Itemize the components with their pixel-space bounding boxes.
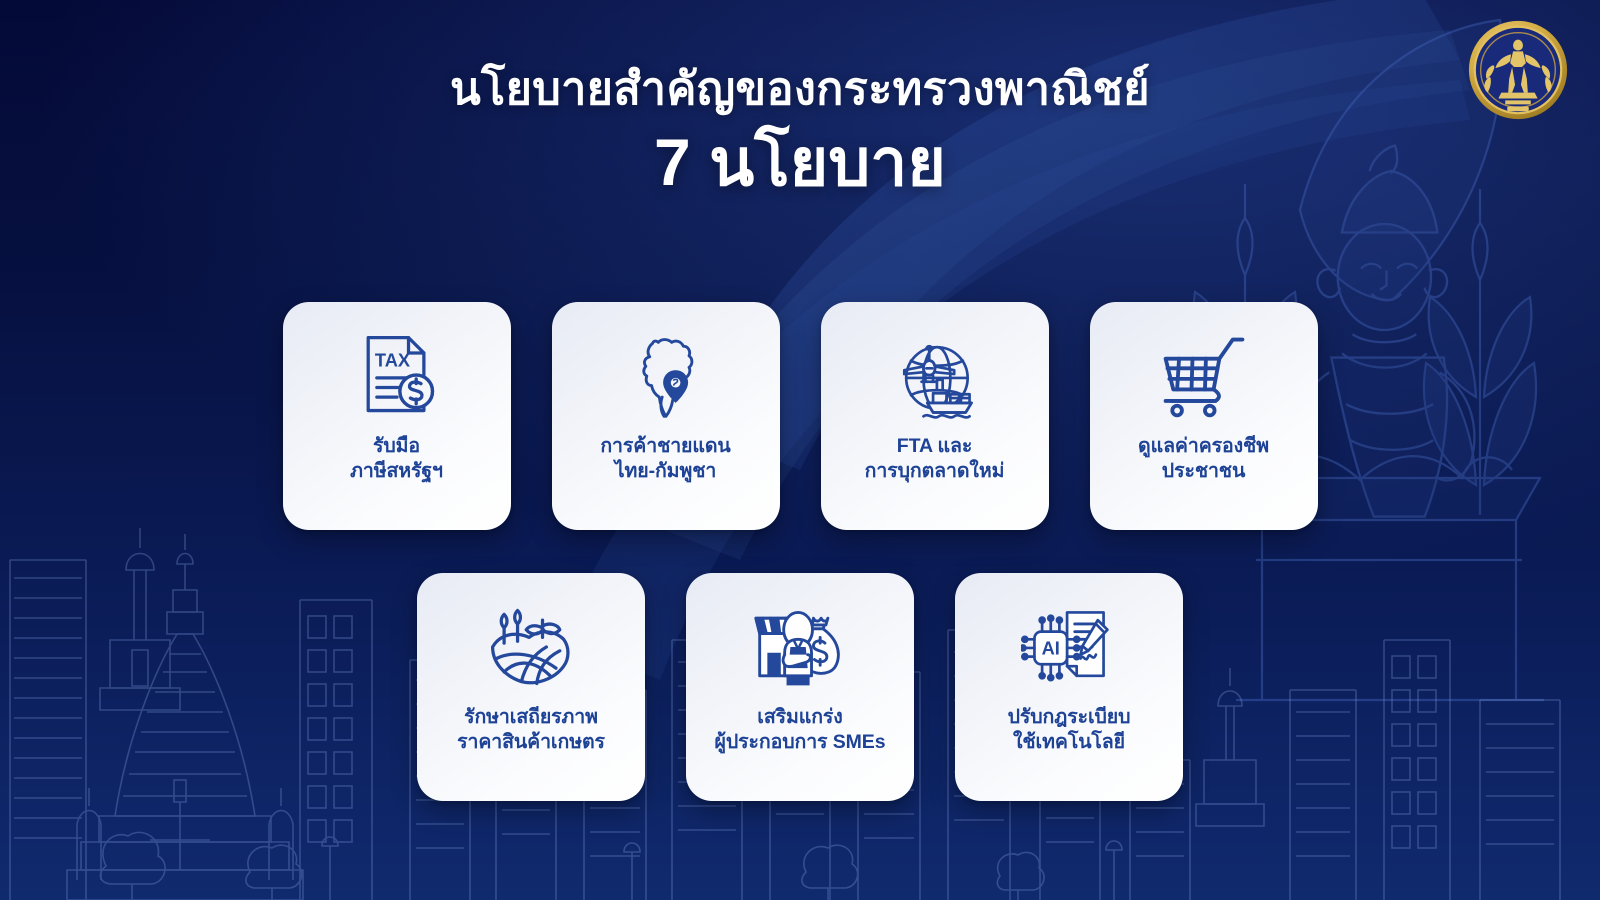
- svg-text:TAX: TAX: [374, 349, 409, 370]
- globe-plane-ship-icon: [887, 328, 983, 424]
- policy-row-bottom: รักษาเสถียรภาพ ราคาสินค้าเกษตร: [0, 573, 1600, 801]
- header-subtitle: นโยบายสำคัญของกระทรวงพาณิชย์: [0, 62, 1600, 115]
- policy-card-label: รักษาเสถียรภาพ ราคาสินค้าเกษตร: [449, 705, 613, 755]
- policy-row-top: TAX รับมือ ภาษีสหรัฐฯ: [0, 302, 1600, 530]
- policy-label-line1: ปรับกฎระเบียบ: [1008, 706, 1131, 728]
- policy-card-label: ดูแลค่าครองชีพ ประชาชน: [1130, 434, 1277, 484]
- policy-card-label: รับมือ ภาษีสหรัฐฯ: [342, 434, 451, 484]
- policy-label-line1: รับมือ: [373, 435, 420, 457]
- policy-label-line1: การค้าชายแดน: [600, 435, 730, 457]
- policy-label-line2: การบุกตลาดใหม่: [865, 459, 1005, 484]
- policy-card-label: ปรับกฎระเบียบ ใช้เทคโนโลยี: [1000, 705, 1139, 755]
- policy-label-line2: ไทย-กัมพูชา: [600, 459, 730, 484]
- shopping-cart-icon: [1156, 328, 1252, 424]
- page-header: นโยบายสำคัญของกระทรวงพาณิชย์ 7 นโยบาย: [0, 62, 1600, 204]
- policy-label-line1: รักษาเสถียรภาพ: [464, 706, 598, 728]
- svg-text:AI: AI: [1042, 638, 1060, 659]
- policy-label-line1: FTA และ: [897, 435, 972, 457]
- policy-label-line1: เสริมแกร่ง: [757, 706, 842, 728]
- policy-card-label: เสริมแกร่ง ผู้ประกอบการ SMEs: [707, 705, 894, 755]
- policy-label-line1: ดูแลค่าครองชีพ: [1138, 435, 1269, 457]
- policy-card-cost-of-living[interactable]: ดูแลค่าครองชีพ ประชาชน: [1090, 302, 1318, 530]
- policy-label-line2: ประชาชน: [1138, 459, 1269, 484]
- policy-card-border-trade[interactable]: การค้าชายแดน ไทย-กัมพูชา: [552, 302, 780, 530]
- farm-field-sprout-icon: [483, 599, 579, 695]
- policy-label-line2: ใช้เทคโนโลยี: [1008, 730, 1131, 755]
- page-title: 7 นโยบาย: [0, 121, 1600, 204]
- policy-card-label: การค้าชายแดน ไทย-กัมพูชา: [592, 434, 738, 484]
- infographic-canvas: นโยบายสำคัญของกระทรวงพาณิชย์ 7 นโยบาย TA…: [0, 0, 1600, 900]
- policy-label-line2: ภาษีสหรัฐฯ: [350, 459, 443, 484]
- policy-card-regulation-technology[interactable]: AI: [955, 573, 1183, 801]
- policy-card-agri-price-stability[interactable]: รักษาเสถียรภาพ ราคาสินค้าเกษตร: [417, 573, 645, 801]
- policy-card-us-tariff[interactable]: TAX รับมือ ภาษีสหรัฐฯ: [283, 302, 511, 530]
- policy-card-sme-support[interactable]: เสริมแกร่ง ผู้ประกอบการ SMEs: [686, 573, 914, 801]
- policy-grid: TAX รับมือ ภาษีสหรัฐฯ: [0, 302, 1600, 801]
- ai-chip-document-pen-icon: AI: [1021, 599, 1117, 695]
- thailand-map-pin-icon: [618, 328, 714, 424]
- shop-vendor-moneybag-icon: [752, 599, 848, 695]
- policy-label-line2: ผู้ประกอบการ SMEs: [715, 730, 886, 755]
- policy-card-fta-new-markets[interactable]: FTA และ การบุกตลาดใหม่: [821, 302, 1049, 530]
- tax-document-dollar-icon: TAX: [349, 328, 445, 424]
- policy-label-line2: ราคาสินค้าเกษตร: [457, 730, 605, 755]
- policy-card-label: FTA และ การบุกตลาดใหม่: [857, 434, 1013, 484]
